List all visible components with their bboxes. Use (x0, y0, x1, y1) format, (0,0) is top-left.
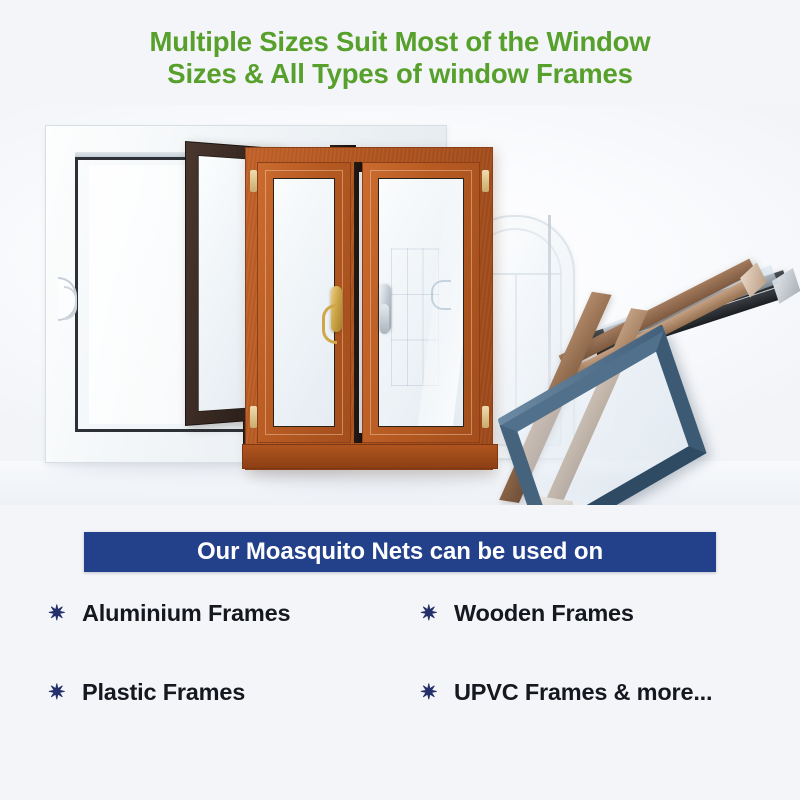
list-item-label: Plastic Frames (82, 679, 245, 706)
silver-handle-icon (379, 284, 391, 332)
usage-banner-text: Our Moasquito Nets can be used on (197, 538, 603, 566)
list-item-wooden-frames: ✷ Wooden Frames (400, 600, 800, 627)
wooden-left-pane (273, 178, 335, 427)
list-item-plastic-frames: ✷ Plastic Frames (0, 679, 400, 706)
list-item-label: UPVC Frames & more... (454, 679, 712, 706)
asterisk-icon: ✷ (420, 682, 454, 703)
wood-hinge-bottom (482, 406, 489, 428)
product-hero-image (0, 105, 800, 505)
wood-hinge-left-bottom (250, 406, 257, 428)
wooden-sill (242, 444, 498, 469)
frame-types-list: ✷ Aluminium Frames ✷ Wooden Frames ✷ Pla… (0, 600, 800, 706)
asterisk-icon: ✷ (48, 682, 82, 703)
page-title-line-2: Sizes & All Types of window Frames (0, 58, 800, 90)
page-title: Multiple Sizes Suit Most of the Window S… (0, 0, 800, 91)
usage-banner: Our Moasquito Nets can be used on (84, 532, 716, 572)
list-item-label: Wooden Frames (454, 600, 634, 627)
glass-reflection-handle (431, 280, 451, 310)
asterisk-icon: ✷ (420, 603, 454, 624)
page-title-line-1: Multiple Sizes Suit Most of the Window (0, 26, 800, 58)
list-item-aluminium-frames: ✷ Aluminium Frames (0, 600, 400, 627)
wood-hinge-top (482, 170, 489, 192)
wood-hinge-left-top (250, 170, 257, 192)
brass-handle-icon (331, 286, 342, 332)
list-item-label: Aluminium Frames (82, 600, 290, 627)
asterisk-icon: ✷ (48, 603, 82, 624)
wooden-double-window (245, 147, 493, 470)
list-item-upvc-frames: ✷ UPVC Frames & more... (400, 679, 800, 706)
